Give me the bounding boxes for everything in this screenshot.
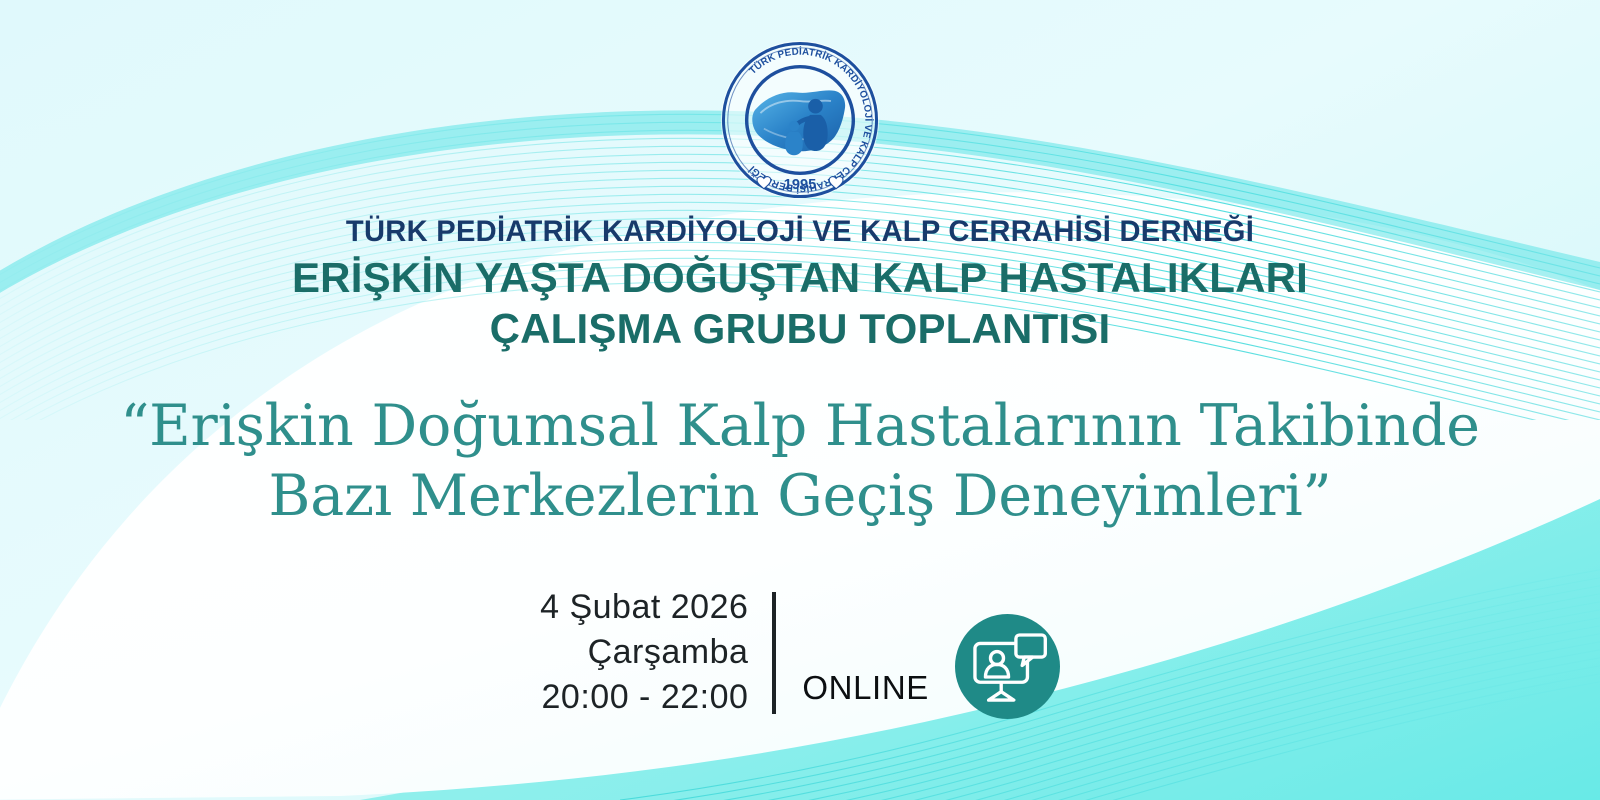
event-title-line-2: ÇALIŞMA GRUBU TOPLANTISI [0,304,1600,354]
event-day: Çarşamba [540,630,748,675]
topic-quote-line-1: “Erişkin Doğumsal Kalp Hastalarının Taki… [0,392,1600,462]
event-details-row: 4 Şubat 2026 Çarşamba 20:00 - 22:00 ONLI… [0,585,1600,721]
organization-name: TÜRK PEDİATRİK KARDİYOLOJİ VE KALP CERRA… [24,214,1576,249]
logo-year: 1995 [784,177,817,193]
event-format-label: ONLINE [776,669,954,707]
heading-block: TÜRK PEDİATRİK KARDİYOLOJİ VE KALP CERRA… [0,214,1600,353]
topic-quote-line-2: Bazı Merkezlerin Geçiş Deneyimleri” [0,462,1600,532]
event-time: 20:00 - 22:00 [540,675,748,720]
event-title-line-1: ERİŞKİN YAŞTA DOĞUŞTAN KALP HASTALIKLARI [0,253,1600,303]
event-date: 4 Şubat 2026 [540,585,748,630]
association-logo-svg: TÜRK PEDİATRİK KARDİYOLOJİ VE KALP CERRA… [714,34,886,206]
topic-quote: “Erişkin Doğumsal Kalp Hastalarının Taki… [0,392,1600,531]
event-datetime: 4 Şubat 2026 Çarşamba 20:00 - 22:00 [540,585,772,721]
online-meeting-icon [955,614,1060,719]
association-logo: TÜRK PEDİATRİK KARDİYOLOJİ VE KALP CERRA… [714,34,886,206]
event-poster: TÜRK PEDİATRİK KARDİYOLOJİ VE KALP CERRA… [0,0,1600,800]
online-meeting-icon-svg [955,614,1060,719]
